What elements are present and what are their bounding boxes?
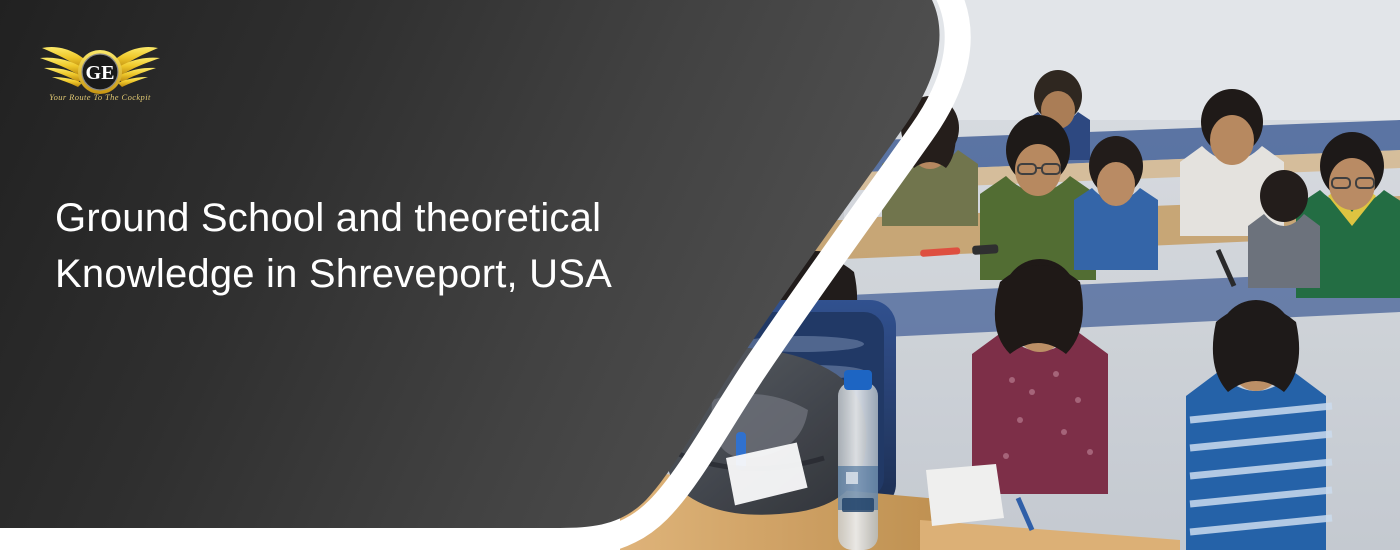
brand-logo[interactable]: GE Your Route To The Cockpit [38,30,162,102]
page-title-line-2: Knowledge in Shreveport, USA [55,246,715,302]
hero-banner: GE Your Route To The Cockpit Ground Scho… [0,0,1400,550]
page-title: Ground School and theoretical Knowledge … [55,190,715,302]
classroom-photo [620,0,1400,550]
logo-tagline: Your Route To The Cockpit [49,92,151,102]
page-title-line-1: Ground School and theoretical [55,190,715,246]
logo-monogram: GE [86,62,115,84]
